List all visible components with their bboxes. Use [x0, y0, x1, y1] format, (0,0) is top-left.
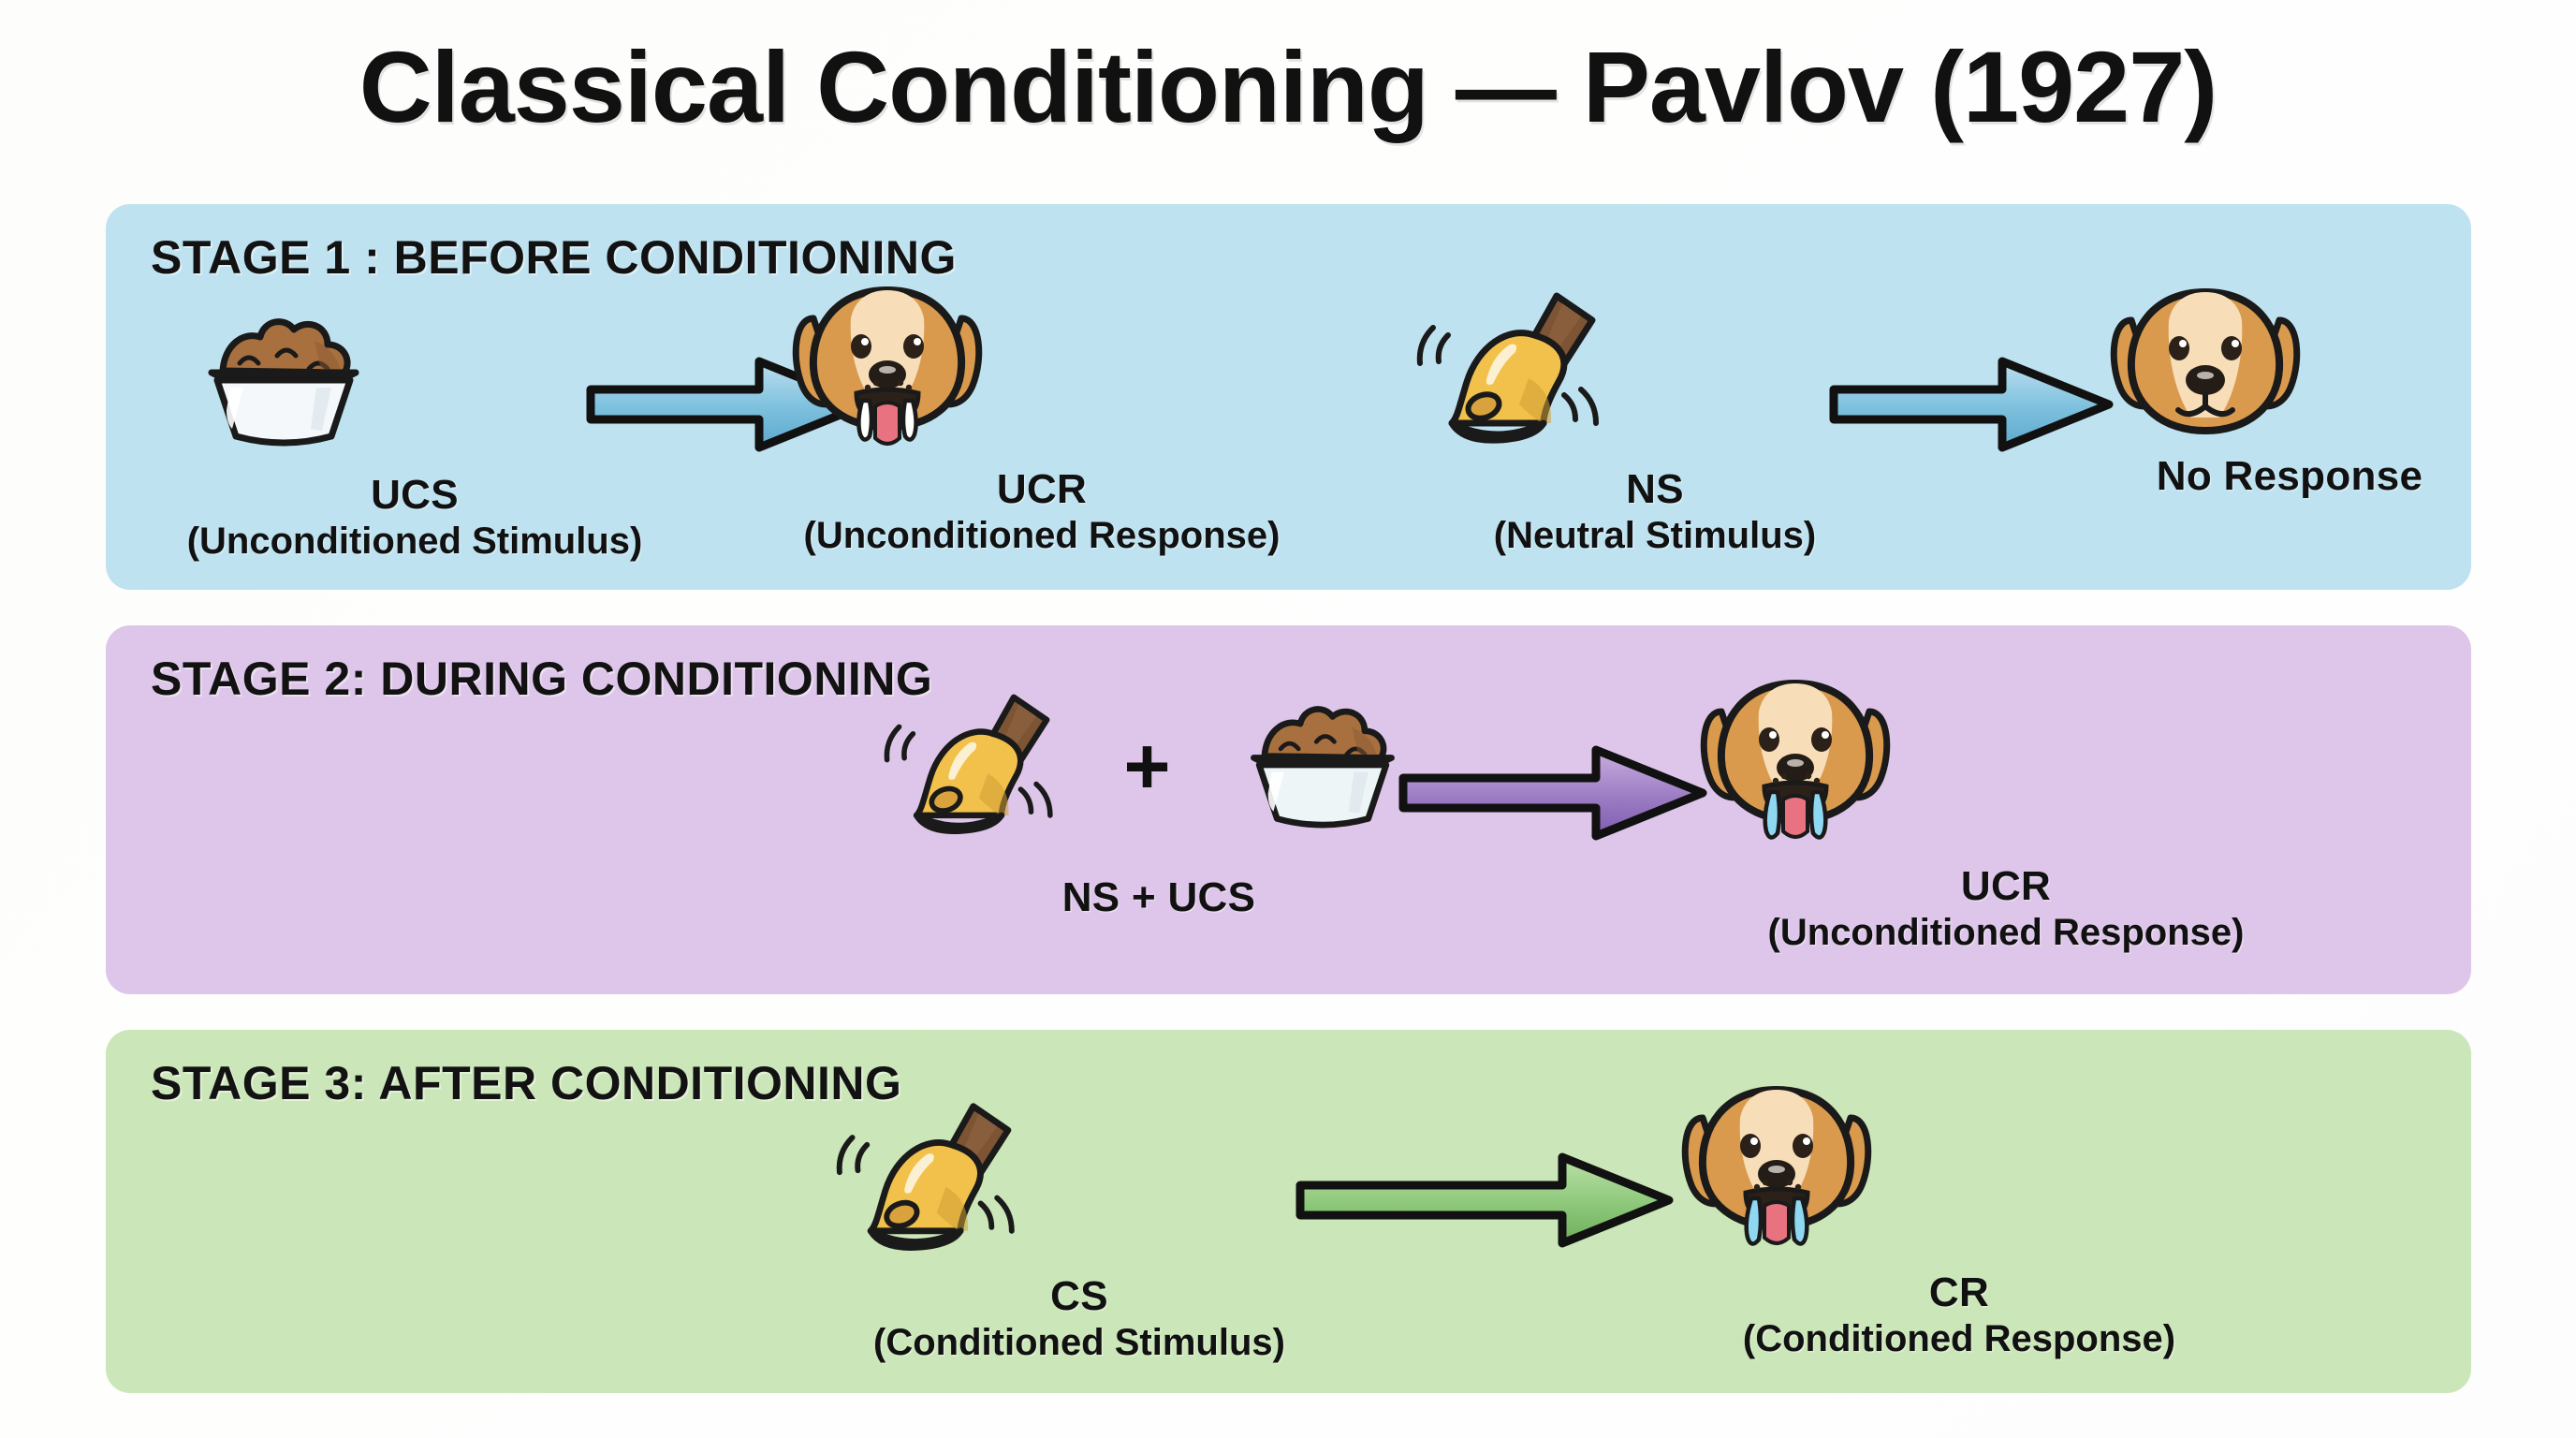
diagram-canvas: Classical Conditioning — Pavlov (1927) S…: [0, 0, 2576, 1438]
hand-bell-icon: [1416, 281, 1894, 461]
stage-2-panel: STAGE 2: DURING CONDITIONING: [106, 625, 2471, 994]
stage-2-arrow: [1398, 742, 1716, 844]
hand-bell-icon: [883, 683, 1084, 850]
stage-3-cs-label: CS: [836, 1273, 1323, 1320]
stage-1-ucr-sublabel: (Unconditioned Response): [770, 515, 1313, 557]
arrow-right-icon: [1398, 742, 1716, 844]
dog-drooling-icon: [770, 277, 1313, 461]
stage-1-ns-sublabel: (Neutral Stimulus): [1416, 515, 1894, 557]
stage-2-heading: STAGE 2: DURING CONDITIONING: [151, 652, 932, 706]
stage-3-cs-sublabel: (Conditioned Stimulus): [836, 1322, 1323, 1364]
stage-2-compound-stimulus: + NS + UCS: [869, 683, 1449, 921]
stage-1-item-no-response: No Response: [2088, 279, 2491, 500]
stage-1-item-ucr: UCR (Unconditioned Response): [770, 277, 1313, 557]
hand-bell-icon: [836, 1092, 1323, 1268]
stage-1-ucs-label: UCS: [167, 472, 663, 519]
stage-1-ucs-sublabel: (Unconditioned Stimulus): [167, 521, 663, 563]
stage-1-panel: STAGE 1 : BEFORE CONDITIONING UCS (Uncon…: [106, 204, 2471, 590]
stage-2-ucr-label: UCR: [1678, 863, 2334, 910]
dog-drooling-icon: [1660, 1077, 2259, 1264]
stage-3-item-cs: CS (Conditioned Stimulus): [836, 1092, 1323, 1364]
stage-3-cr-sublabel: (Conditioned Response): [1660, 1318, 2259, 1360]
stage-3-heading: STAGE 3: AFTER CONDITIONING: [151, 1056, 901, 1110]
stage-3-panel: STAGE 3: AFTER CONDITIONING CS: [106, 1030, 2471, 1393]
stage-1-no-response-label: No Response: [2088, 453, 2491, 500]
stage-2-ucr-sublabel: (Unconditioned Response): [1678, 912, 2334, 954]
stage-2-item-ucr: UCR (Unconditioned Response): [1678, 670, 2334, 954]
stage-2-compound-label: NS + UCS: [869, 874, 1449, 921]
stage-3-arrow: [1295, 1150, 1688, 1251]
stage-1-ns-label: NS: [1416, 466, 1894, 513]
arrow-right-icon: [1828, 354, 2128, 455]
dog-drooling-icon: [1678, 670, 2334, 858]
arrow-right-icon: [1295, 1150, 1688, 1251]
stage-3-item-cr: CR (Conditioned Response): [1660, 1077, 2259, 1360]
dog-calm-icon: [2088, 279, 2491, 448]
stage-1-ucr-label: UCR: [770, 466, 1313, 513]
stage-3-cr-label: CR: [1660, 1269, 2259, 1316]
stage-1-arrow-2: [1828, 354, 2128, 455]
page-title: Classical Conditioning — Pavlov (1927): [0, 34, 2576, 139]
stage-1-item-ns: NS (Neutral Stimulus): [1416, 281, 1894, 557]
plus-sign-icon: +: [1123, 726, 1170, 807]
